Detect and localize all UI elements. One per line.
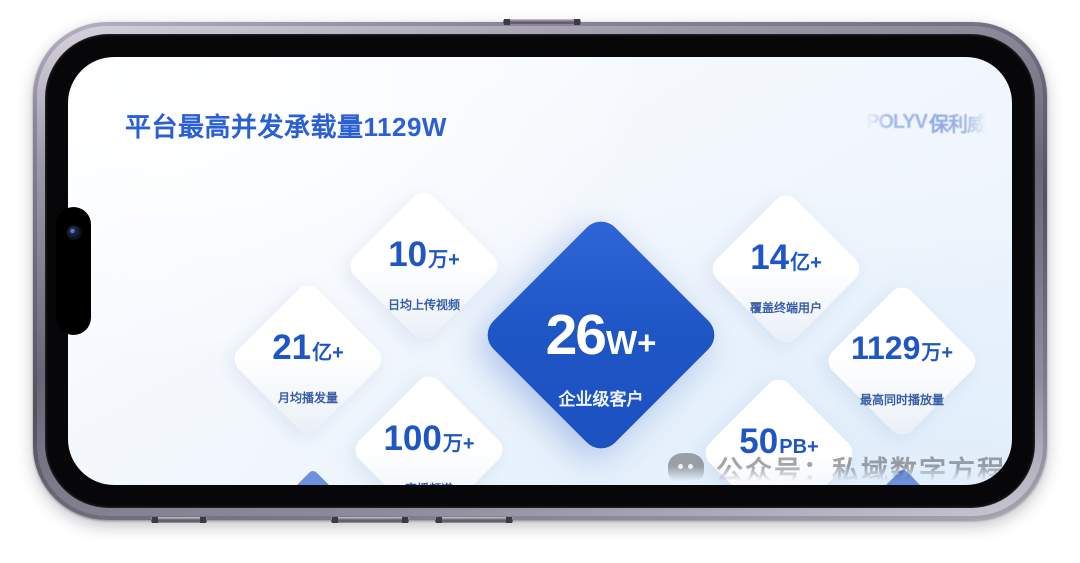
phone-frame: 平台最高并发承载量1129W POLYV 保利威 10 万+ 日均上传视频 (33, 22, 1047, 520)
stat-number: 100 (383, 421, 441, 456)
stat-unit: 亿+ (790, 253, 822, 273)
stat-value-group: 26 W+ (515, 307, 687, 364)
stat-value-group: 100 万+ (373, 421, 485, 456)
stat-unit: 万+ (921, 343, 953, 363)
volume-up-button[interactable] (331, 517, 409, 523)
stat-value-group: 1129 万+ (846, 332, 958, 364)
accent-diamond-left (289, 469, 337, 485)
stat-unit: 万+ (428, 250, 460, 270)
stat-unit: W+ (606, 326, 656, 359)
stat-number: 14 (750, 240, 789, 275)
front-camera-icon (67, 226, 80, 239)
dynamic-island (56, 207, 91, 335)
stat-label: 日均上传视频 (340, 296, 508, 313)
infographic-slide: 平台最高并发承载量1129W POLYV 保利威 10 万+ 日均上传视频 (68, 57, 1012, 485)
stat-unit: 亿+ (312, 343, 344, 363)
stat-label: 月均播发量 (224, 389, 392, 406)
stat-value-group: 10 万+ (368, 237, 480, 272)
stat-number: 1129 (851, 332, 920, 364)
stat-value-group: 14 亿+ (730, 240, 842, 275)
stat-diamond-right[interactable]: 1129 万+ 最高同时播放量 (846, 305, 958, 417)
stat-diamond-bottom-left[interactable]: 100 万+ 直播频道 (373, 394, 485, 485)
wechat-bubble-icon (668, 453, 704, 484)
brand-latin: POLYV (866, 111, 927, 134)
brand-cn: 保利威 (929, 108, 986, 137)
stat-diamond-top-left[interactable]: 10 万+ 日均上传视频 (368, 210, 480, 322)
stat-unit: 万+ (443, 434, 475, 454)
action-button[interactable] (151, 517, 207, 523)
screenshot-stage: 平台最高并发承载量1129W POLYV 保利威 10 万+ 日均上传视频 (0, 0, 1080, 563)
stat-number: 10 (388, 237, 427, 272)
stat-number: 21 (272, 330, 311, 365)
stat-label: 直播频道 (345, 480, 513, 485)
phone-inner-bezel: 平台最高并发承载量1129W POLYV 保利威 10 万+ 日均上传视频 (45, 34, 1035, 508)
page-title: 平台最高并发承载量1129W (125, 107, 447, 144)
power-button[interactable] (503, 19, 581, 25)
stat-diamond-left[interactable]: 21 亿+ 月均播发量 (252, 303, 364, 415)
watermark: 公众号：私域数字方程式 (668, 445, 1012, 485)
watermark-text: 公众号：私域数字方程式 (716, 449, 1012, 486)
phone-bezel: 平台最高并发承载量1129W POLYV 保利威 10 万+ 日均上传视频 (37, 26, 1043, 516)
phone-screen: 平台最高并发承载量1129W POLYV 保利威 10 万+ 日均上传视频 (68, 57, 1012, 485)
stat-label: 企业级客户 (487, 385, 715, 410)
polyv-logo: POLYV 保利威 (866, 110, 986, 134)
stat-label: 覆盖终端用户 (702, 299, 870, 316)
stat-diamond-top-right[interactable]: 14 亿+ 覆盖终端用户 (730, 213, 842, 325)
stat-value-group: 21 亿+ (252, 330, 364, 365)
stat-diamond-center[interactable]: 26 W+ 企业级客户 (515, 249, 687, 421)
stat-label: 最高同时播放量 (818, 391, 986, 408)
stat-number: 26 (546, 307, 605, 364)
volume-down-button[interactable] (435, 517, 513, 523)
